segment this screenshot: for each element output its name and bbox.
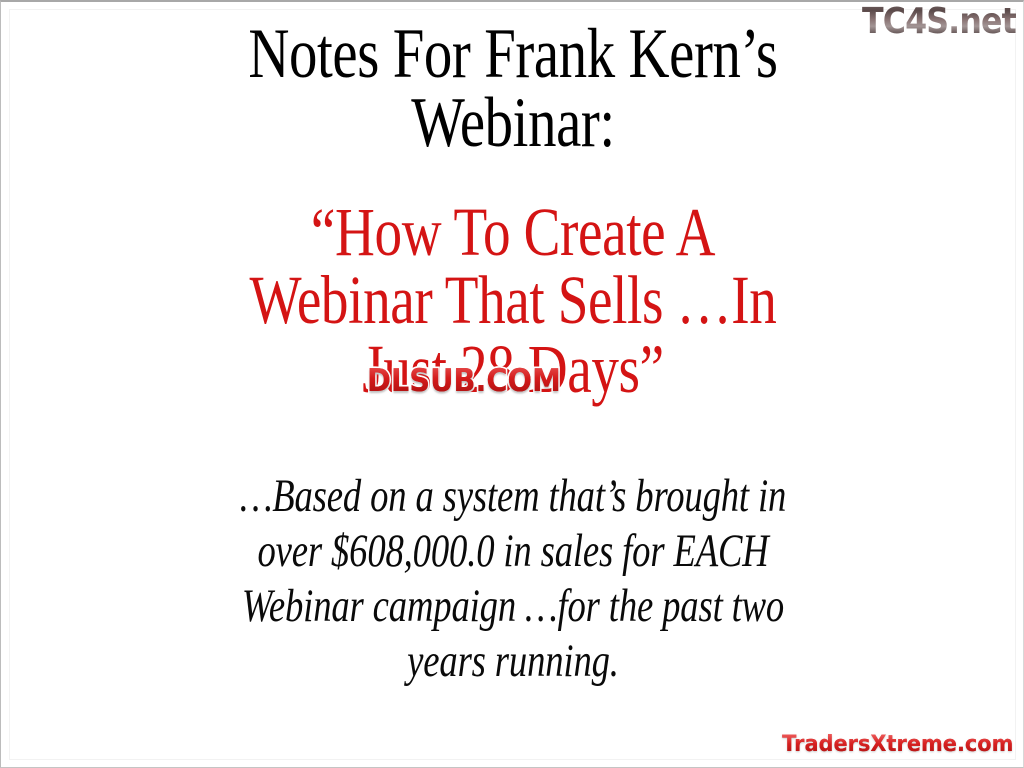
watermark-dlsub-fill: DLSUB.COM: [367, 366, 561, 397]
watermark-tradersxtreme: TradersXtreme.com TradersXtreme.com: [782, 734, 1013, 756]
slide-subheadline-line-2: over $608,000.0 in sales for EACH: [160, 524, 865, 579]
slide-title: Notes For Frank Kern’s Webinar:: [151, 20, 874, 158]
slide-title-line-1: Notes For Frank Kern’s: [151, 20, 874, 89]
slide-canvas: Notes For Frank Kern’s Webinar: “How To …: [0, 0, 1024, 768]
slide-headline-line-2: Webinar That Sells …In: [135, 266, 890, 334]
slide-subheadline-line-4: years running.: [160, 634, 865, 689]
slide-subheadline: …Based on a system that’s brought in ove…: [160, 469, 865, 689]
watermark-tc4s: TC4S.net: [862, 4, 1016, 40]
slide-headline-line-1: “How To Create A: [135, 198, 890, 266]
slide-title-line-2: Webinar:: [151, 89, 874, 158]
slide-subheadline-line-3: Webinar campaign …for the past two: [160, 579, 865, 634]
slide-subheadline-line-1: …Based on a system that’s brought in: [160, 469, 865, 524]
watermark-dlsub: DLSUB.COM DLSUB.COM: [367, 366, 561, 397]
watermark-tradersxtreme-fill: TradersXtreme.com: [782, 734, 1013, 756]
